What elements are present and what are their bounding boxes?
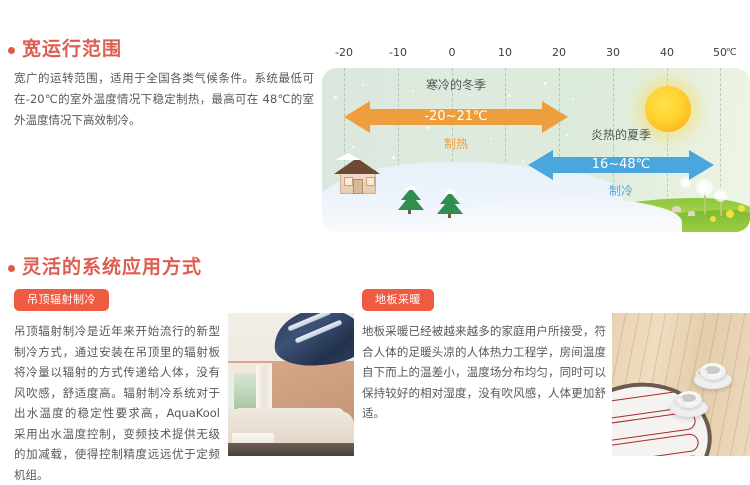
badge-floor-heating: 地板采暖 <box>362 289 434 311</box>
section-body-wide-operating-range: 宽广的运转范围，适用于全国各类气候条件。系统最低可在-20℃的室外温度情况下稳定… <box>14 68 314 131</box>
axis-unit-label: ℃ <box>726 47 737 58</box>
tree-snow-icon <box>444 188 456 194</box>
cooling-season-label: 炎热的夏季 <box>528 129 714 141</box>
snowflake-icon <box>572 98 574 100</box>
house-roof-icon <box>334 158 380 174</box>
flower-icon <box>738 205 745 212</box>
cooling-mode-label: 制冷 <box>528 185 714 197</box>
cup-handle <box>672 396 684 408</box>
badge-ceiling-radiant-cooling: 吊顶辐射制冷 <box>14 289 109 311</box>
bullet-dot-icon <box>8 47 15 54</box>
climate-range-chart: -20 -10 0 10 20 30 40 50 ℃ <box>322 46 750 232</box>
house-window-icon <box>366 177 375 186</box>
axis-tick-label: -10 <box>389 46 407 59</box>
climate-scene-illustration: 寒冷的冬季 -20~21℃ 制热 炎热的夏季 16~48℃ 制冷 <box>322 68 750 232</box>
snowflake-icon <box>392 156 395 159</box>
flower-icon <box>726 210 734 218</box>
house-door-icon <box>353 179 363 194</box>
column-body-floor-heating: 地板采暖已经被越来越多的家庭用户所接受，符合人体的足暖头凉的人体热力工程学，房间… <box>362 321 606 424</box>
column-ceiling-radiant-cooling: 吊顶辐射制冷 吊顶辐射制冷是近年来开始流行的新型制冷方式，通过安装在吊顶里的辐射… <box>14 288 220 485</box>
axis-tick-label: 20 <box>552 46 566 59</box>
heating-range-value: -20~21℃ <box>344 110 568 123</box>
floor-heating-photo <box>612 313 750 456</box>
temperature-scale-axis: -20 -10 0 10 20 30 40 50 ℃ <box>322 46 750 68</box>
ceiling-radiant-cooling-photo <box>228 313 354 456</box>
roof-snow-icon <box>335 153 361 160</box>
house-window-icon <box>344 177 353 186</box>
page-title: 宽运行范围 <box>22 40 122 59</box>
dandelion-puff-icon <box>714 189 727 202</box>
tree-snow-icon <box>405 184 417 190</box>
snowflake-icon <box>334 96 337 99</box>
snowflake-icon <box>522 160 524 162</box>
section-heading-wide-operating-range: 宽运行范围 <box>8 40 122 59</box>
heating-season-label: 寒冷的冬季 <box>344 79 568 91</box>
column-body-ceiling-radiant-cooling: 吊顶辐射制冷是近年来开始流行的新型制冷方式，通过安装在吊顶里的辐射板将冷量以辐射… <box>14 321 220 485</box>
mushroom-icon <box>688 211 695 216</box>
page-title: 灵活的系统应用方式 <box>22 258 202 277</box>
axis-tick-label: 0 <box>449 46 456 59</box>
cooling-range-value: 16~48℃ <box>528 158 714 171</box>
flower-icon <box>710 216 716 222</box>
window-frame <box>228 373 234 409</box>
axis-tick-label: 10 <box>498 46 512 59</box>
floor-surface <box>228 443 354 456</box>
axis-tick-label: 50 <box>713 46 727 59</box>
snowflake-icon <box>508 94 511 97</box>
axis-tick-label: -20 <box>335 46 353 59</box>
cup-handle <box>696 368 708 380</box>
axis-tick-label: 40 <box>660 46 674 59</box>
axis-tick-label: 30 <box>606 46 620 59</box>
mushroom-icon <box>672 206 681 212</box>
column-floor-heating: 地板采暖 地板采暖已经被越来越多的家庭用户所接受，符合人体的足暖头凉的人体热力工… <box>362 288 606 424</box>
bullet-dot-icon <box>8 265 15 272</box>
section-heading-flexible-system-application: 灵活的系统应用方式 <box>8 258 202 277</box>
sun-icon <box>645 86 691 132</box>
